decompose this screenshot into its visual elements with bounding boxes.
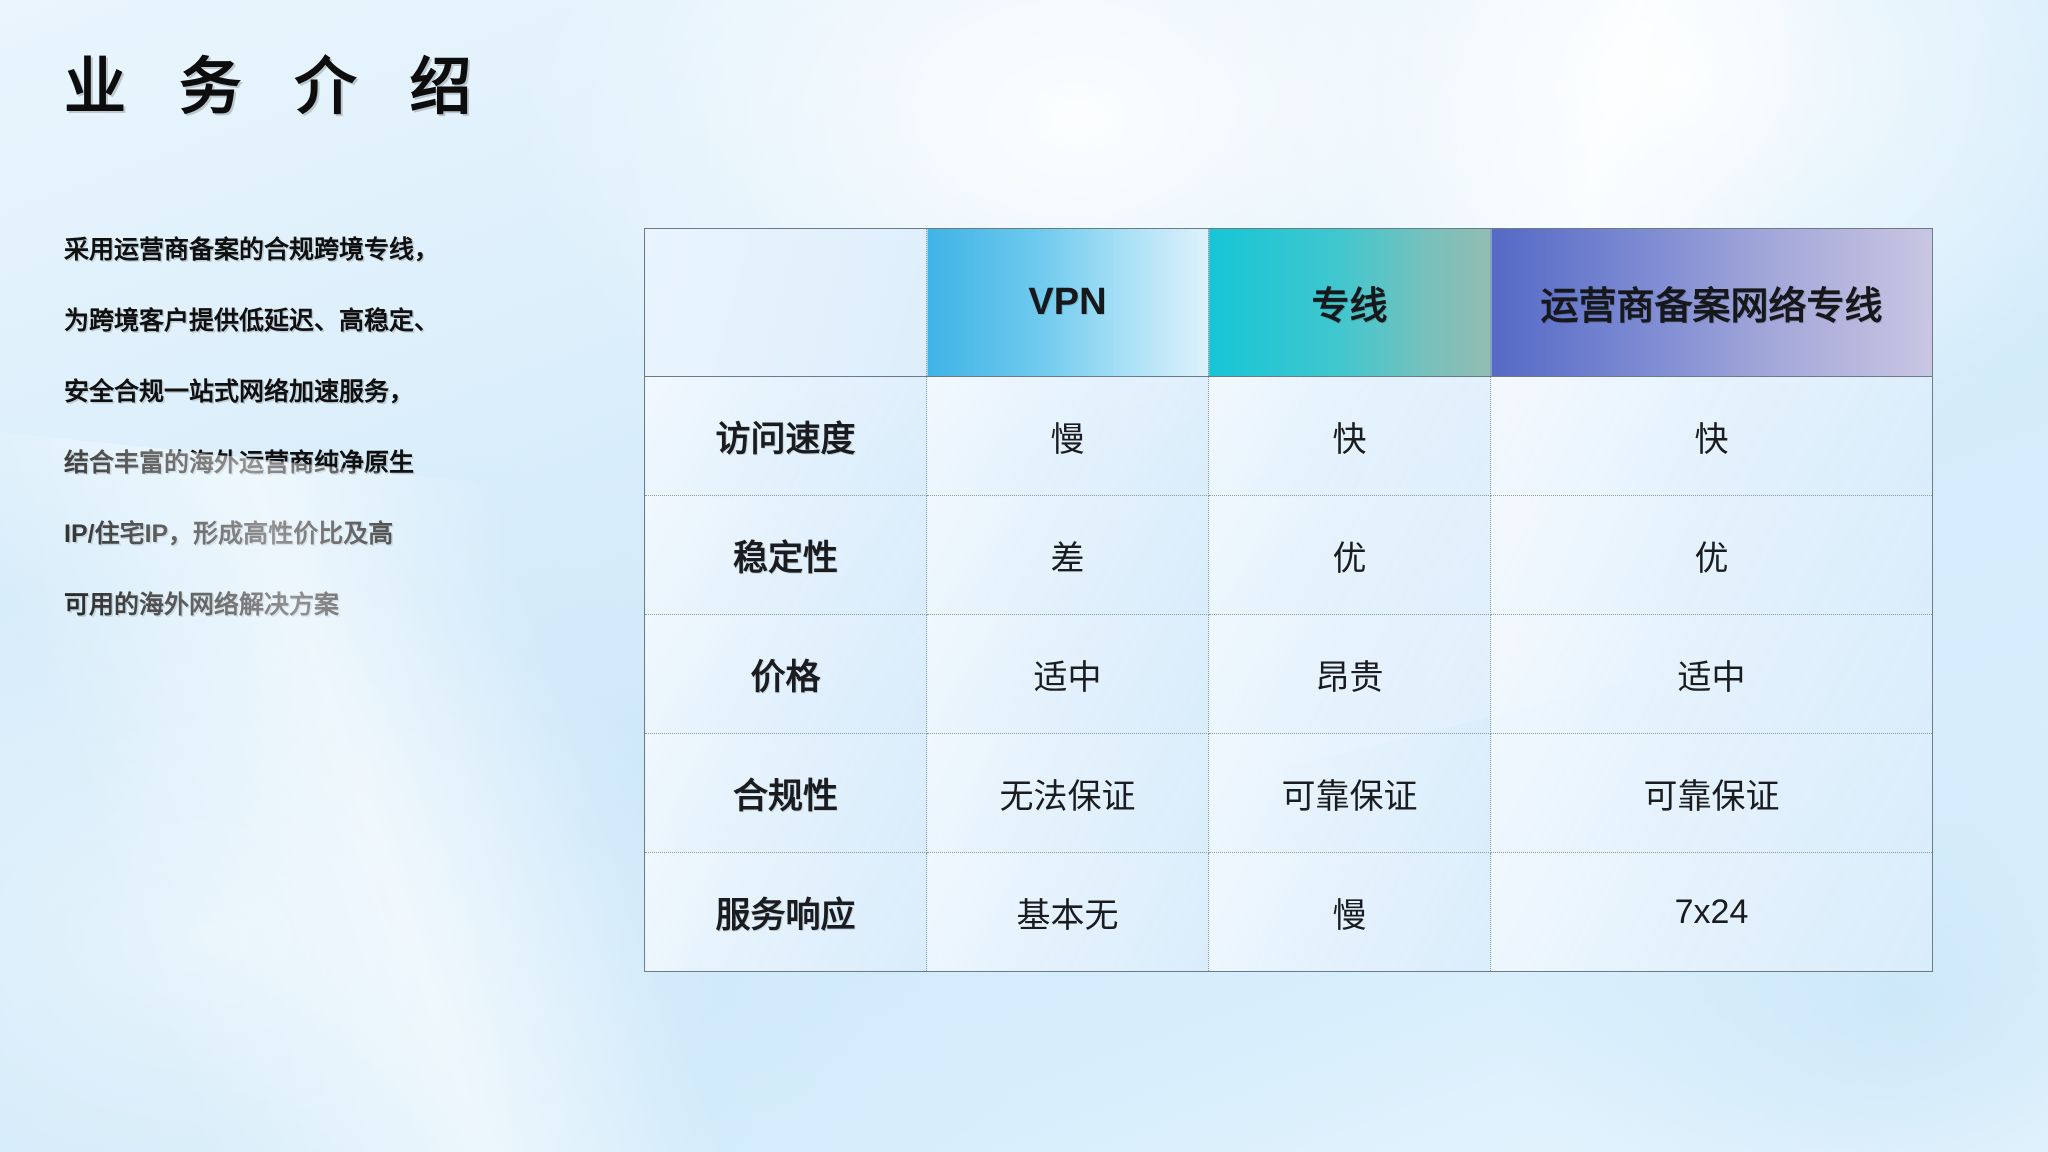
column-header-blank <box>645 229 927 377</box>
row-label: 服务响应 <box>645 853 927 972</box>
table-row: 服务响应 基本无 慢 7x24 <box>645 853 1933 972</box>
column-header-vpn: VPN <box>927 229 1209 377</box>
table-row: 稳定性 差 优 优 <box>645 496 1933 615</box>
comparison-table: VPN 专线 运营商备案网络专线 访问速度 慢 快 快 稳定性 差 优 优 价格… <box>644 228 1933 972</box>
cell-vpn: 适中 <box>927 615 1209 734</box>
table-header: VPN 专线 运营商备案网络专线 <box>645 229 1933 377</box>
paragraph-line: IP/住宅IP，形成高性价比及高 <box>64 522 474 547</box>
cell-vpn: 慢 <box>927 377 1209 496</box>
paragraph-line: 为跨境客户提供低延迟、高稳定、 <box>64 309 474 334</box>
paragraph-line: 可用的海外网络解决方案 <box>64 593 474 618</box>
column-header-carrier: 运营商备案网络专线 <box>1491 229 1933 377</box>
row-label: 价格 <box>645 615 927 734</box>
page-title: 业 务 介 绍 <box>64 52 490 123</box>
cell-carrier: 可靠保证 <box>1491 734 1933 853</box>
cell-line: 优 <box>1209 496 1491 615</box>
background-glow-bottom-left <box>0 560 730 1152</box>
slide-canvas: 业 务 介 绍 采用运营商备案的合规跨境专线， 为跨境客户提供低延迟、高稳定、 … <box>0 0 2048 1152</box>
row-label: 稳定性 <box>645 496 927 615</box>
cell-carrier: 适中 <box>1491 615 1933 734</box>
row-label: 访问速度 <box>645 377 927 496</box>
cell-vpn: 基本无 <box>927 853 1209 972</box>
paragraph-line: 采用运营商备案的合规跨境专线， <box>64 238 474 263</box>
table-row: 价格 适中 昂贵 适中 <box>645 615 1933 734</box>
cell-line: 昂贵 <box>1209 615 1491 734</box>
table-body: 访问速度 慢 快 快 稳定性 差 优 优 价格 适中 昂贵 适中 合规性 无法保… <box>645 377 1933 972</box>
cell-vpn: 无法保证 <box>927 734 1209 853</box>
cell-vpn: 差 <box>927 496 1209 615</box>
intro-paragraph: 采用运营商备案的合规跨境专线， 为跨境客户提供低延迟、高稳定、 安全合规一站式网… <box>64 238 474 618</box>
table-header-row: VPN 专线 运营商备案网络专线 <box>645 229 1933 377</box>
row-label: 合规性 <box>645 734 927 853</box>
cell-line: 快 <box>1209 377 1491 496</box>
cell-carrier: 快 <box>1491 377 1933 496</box>
cell-carrier: 优 <box>1491 496 1933 615</box>
cell-line: 慢 <box>1209 853 1491 972</box>
cell-carrier: 7x24 <box>1491 853 1933 972</box>
table-row: 访问速度 慢 快 快 <box>645 377 1933 496</box>
paragraph-line: 安全合规一站式网络加速服务， <box>64 380 474 405</box>
paragraph-line: 结合丰富的海外运营商纯净原生 <box>64 451 474 476</box>
column-header-line: 专线 <box>1209 229 1491 377</box>
cell-line: 可靠保证 <box>1209 734 1491 853</box>
table-row: 合规性 无法保证 可靠保证 可靠保证 <box>645 734 1933 853</box>
